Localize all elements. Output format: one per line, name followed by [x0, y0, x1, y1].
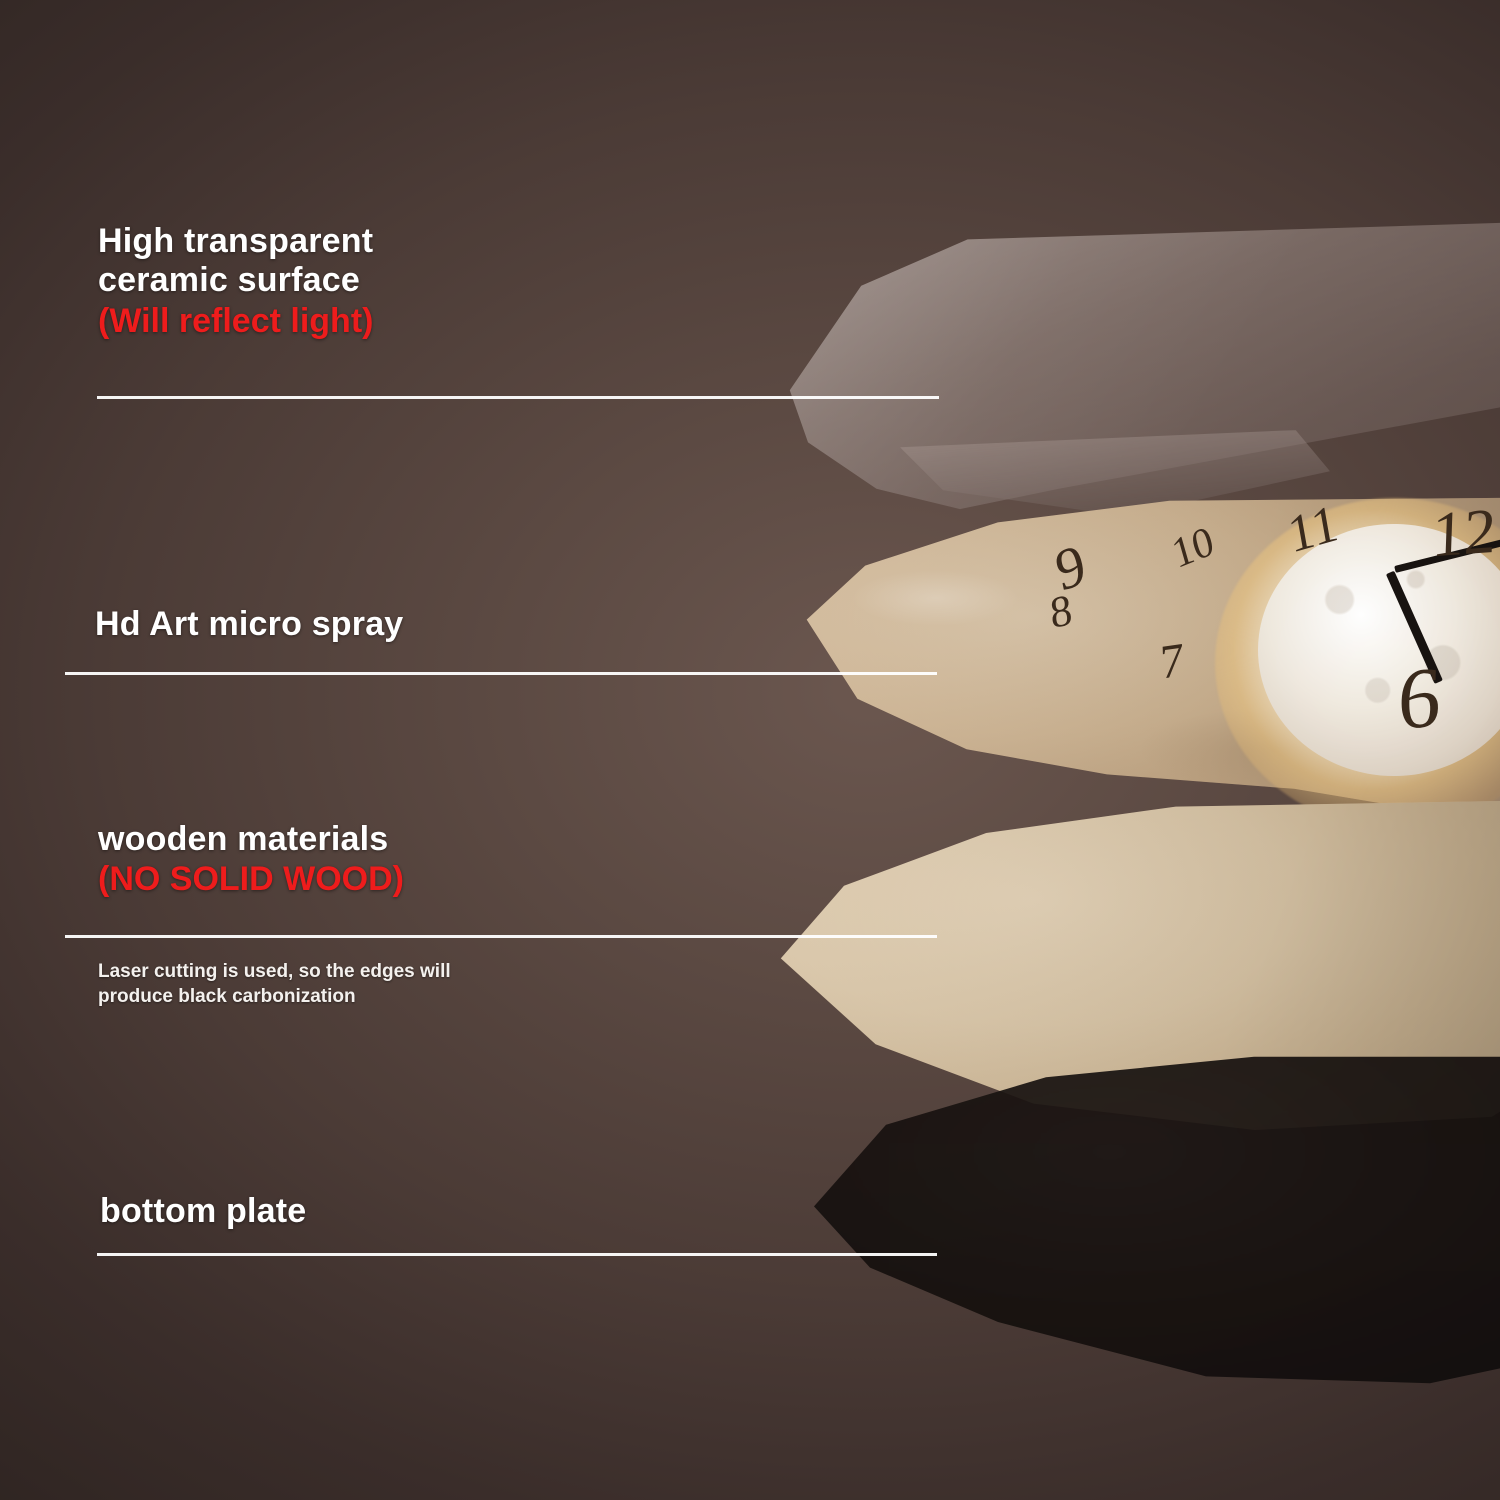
callout-bottom-plate-leader-line	[97, 1253, 937, 1256]
clock-numeral: 12	[1431, 494, 1497, 573]
callout-bottom-plate-title: bottom plate	[100, 1192, 740, 1231]
bottom-plate-layer	[790, 1050, 1500, 1390]
callout-ceramic-leader-line	[97, 396, 939, 399]
callout-micro-spray-title: Hd Art micro spray	[95, 605, 735, 644]
callout-wooden-title: wooden materials	[98, 820, 738, 859]
infographic-canvas: 1211109876 High transparent ceramic surf…	[0, 0, 1500, 1500]
callout-ceramic: High transparent ceramic surface (Will r…	[98, 222, 738, 342]
callout-bottom-plate: bottom plate	[100, 1192, 740, 1231]
callout-micro-spray-leader-line	[65, 672, 937, 675]
callout-wooden-note: Laser cutting is used, so the edges will…	[98, 950, 738, 1009]
callout-micro-spray: Hd Art micro spray	[95, 605, 735, 644]
callout-wooden: wooden materials (NO SOLID WOOD)	[98, 820, 738, 900]
callout-ceramic-title: High transparent ceramic surface	[98, 222, 738, 301]
callout-wooden-note-text: Laser cutting is used, so the edges will…	[98, 960, 738, 1009]
clock-numeral: 7	[1159, 632, 1185, 691]
callout-wooden-leader-line	[65, 935, 937, 938]
callout-ceramic-accent: (Will reflect light)	[98, 301, 738, 342]
callout-wooden-accent: (NO SOLID WOOD)	[98, 859, 738, 900]
clock-numeral: 6	[1396, 646, 1442, 749]
